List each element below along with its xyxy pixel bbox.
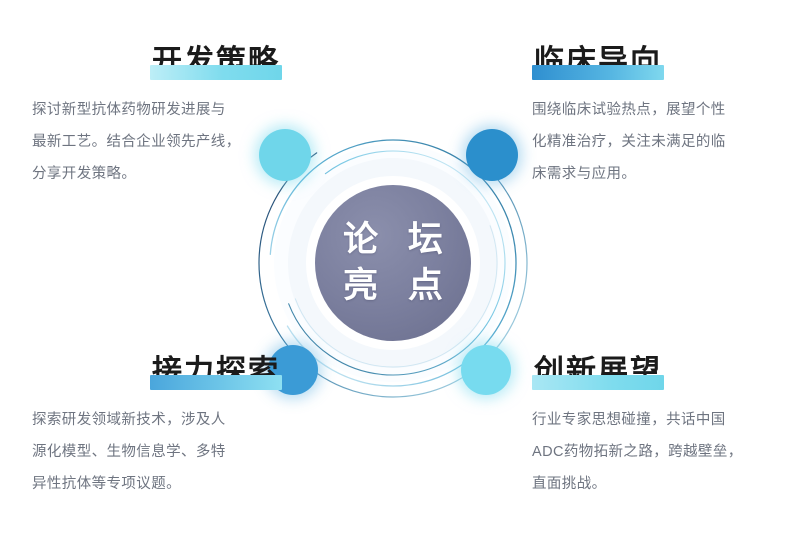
quadrant-title: 创新展望 bbox=[532, 352, 664, 392]
body-line: 围绕临床试验热点，展望个性 bbox=[532, 94, 782, 126]
quadrant-title-wrap: 开发策略 bbox=[32, 42, 282, 84]
body-line: 化精准治疗，关注未满足的临 bbox=[532, 126, 782, 158]
node-dot-top-left[interactable] bbox=[259, 129, 311, 181]
quadrant-body: 探索研发领域新技术，涉及人 源化模型、生物信息学、多特 异性抗体等专项议题。 bbox=[32, 404, 282, 500]
body-line: 源化模型、生物信息学、多特 bbox=[32, 436, 282, 468]
quadrant-title-wrap: 接力探索 bbox=[32, 352, 282, 394]
core-circle bbox=[315, 185, 471, 341]
body-line: ADC药物拓新之路，跨越壁垒， bbox=[532, 436, 782, 468]
title-highlight-bar bbox=[150, 375, 282, 390]
quadrant-title: 接力探索 bbox=[150, 352, 282, 392]
quadrant-relay-exploration: 接力探索 探索研发领域新技术，涉及人 源化模型、生物信息学、多特 异性抗体等专项… bbox=[32, 352, 282, 500]
title-highlight-bar bbox=[532, 65, 664, 80]
node-dot-bottom-right[interactable] bbox=[461, 345, 511, 395]
body-line: 异性抗体等专项议题。 bbox=[32, 468, 282, 500]
quadrant-body: 围绕临床试验热点，展望个性 化精准治疗，关注未满足的临 床需求与应用。 bbox=[532, 94, 782, 190]
body-line: 直面挑战。 bbox=[532, 468, 782, 500]
quadrant-innovation-outlook: 创新展望 行业专家思想碰撞，共话中国 ADC药物拓新之路，跨越壁垒， 直面挑战。 bbox=[532, 352, 782, 500]
title-highlight-bar bbox=[532, 375, 664, 390]
title-highlight-bar bbox=[150, 65, 282, 80]
infographic-canvas: 开发策略 探讨新型抗体药物研发进展与 最新工艺。结合企业领先产线， 分享开发策略… bbox=[0, 0, 785, 540]
node-dot-top-right[interactable] bbox=[466, 129, 518, 181]
quadrant-body: 行业专家思想碰撞，共话中国 ADC药物拓新之路，跨越壁垒， 直面挑战。 bbox=[532, 404, 782, 500]
body-line: 行业专家思想碰撞，共话中国 bbox=[532, 404, 782, 436]
quadrant-title-wrap: 创新展望 bbox=[532, 352, 782, 394]
quadrant-title: 开发策略 bbox=[150, 42, 282, 82]
body-line: 床需求与应用。 bbox=[532, 158, 782, 190]
quadrant-title: 临床导向 bbox=[532, 42, 664, 82]
quadrant-title-wrap: 临床导向 bbox=[532, 42, 782, 84]
quadrant-clinical-orientation: 临床导向 围绕临床试验热点，展望个性 化精准治疗，关注未满足的临 床需求与应用。 bbox=[532, 42, 782, 190]
